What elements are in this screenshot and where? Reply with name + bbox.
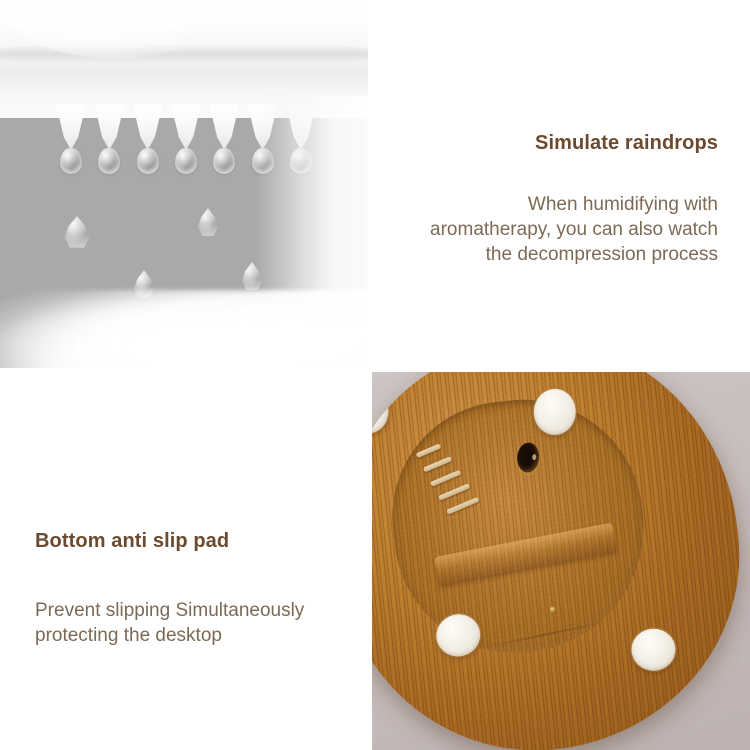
- vent-slot: [423, 456, 453, 472]
- anti-slip-pad: [631, 628, 676, 671]
- raindrops-title: Simulate raindrops: [418, 130, 718, 156]
- antislip-description: Prevent slipping Simultaneously protecti…: [35, 598, 345, 648]
- raindrops-photo-panel: [0, 0, 368, 368]
- nozzle-tooth: [94, 104, 124, 150]
- nozzle-tooth: [209, 104, 239, 150]
- mist-foam: [0, 290, 368, 368]
- raindrops-description: When humidifying with aromatherapy, you …: [418, 192, 718, 267]
- water-droplets-photo: [0, 0, 368, 368]
- nozzle-tooth: [56, 104, 86, 150]
- hanging-droplet: [98, 148, 120, 174]
- vent-slot: [438, 483, 470, 500]
- humidifier-rim: [0, 44, 368, 64]
- falling-droplet: [62, 216, 92, 250]
- nozzle-tooth: [171, 104, 201, 150]
- hanging-droplet: [137, 148, 159, 174]
- humidifier-base-disc: [372, 372, 750, 750]
- vent-slot: [446, 497, 479, 515]
- falling-droplet: [196, 208, 220, 238]
- nozzle-tooth: [133, 104, 163, 150]
- raindrops-text-block: Simulate raindrops When humidifying with…: [418, 130, 718, 267]
- antislip-text-block: Bottom anti slip pad Prevent slipping Si…: [35, 528, 345, 648]
- product-feature-page: Simulate raindrops When humidifying with…: [0, 0, 750, 750]
- antislip-text-panel: Bottom anti slip pad Prevent slipping Si…: [0, 368, 368, 750]
- antislip-title: Bottom anti slip pad: [35, 528, 345, 554]
- hanging-droplet: [213, 148, 235, 174]
- hanging-droplet: [60, 148, 82, 174]
- vent-slot: [430, 470, 461, 487]
- wood-grain-base-photo: [372, 372, 750, 750]
- hanging-droplet: [175, 148, 197, 174]
- raindrops-text-panel: Simulate raindrops When humidifying with…: [368, 0, 750, 368]
- anti-slip-pad: [372, 379, 396, 440]
- antislip-photo-panel: [372, 372, 750, 750]
- base-recessed-cavity: [379, 386, 658, 667]
